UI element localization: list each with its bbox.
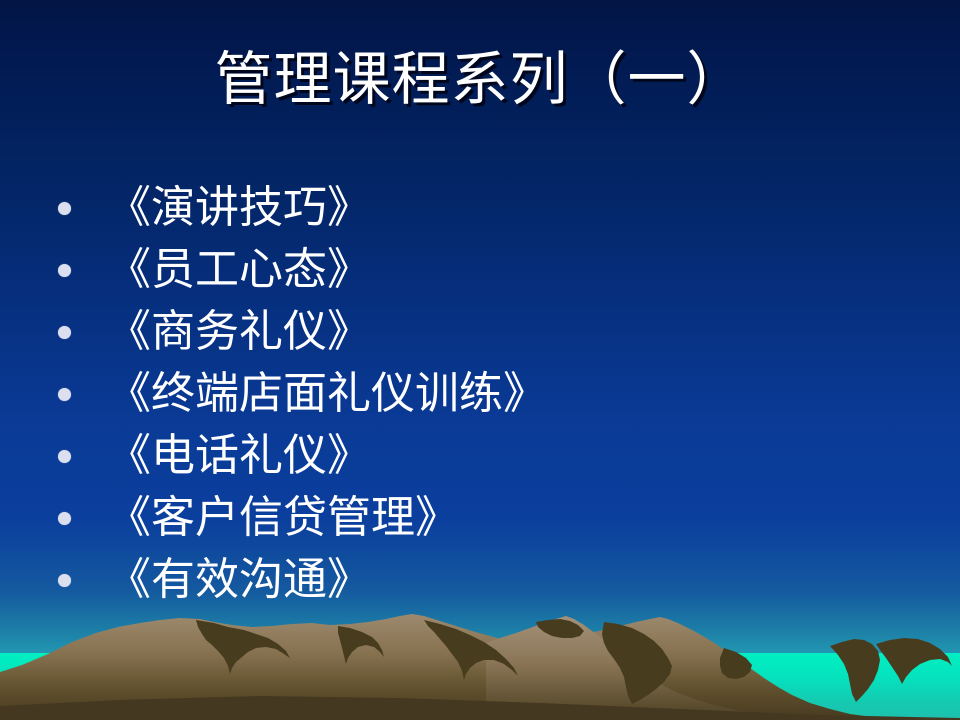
mountain-range-graphic [0, 610, 960, 720]
bullet-dot-icon [58, 264, 71, 277]
list-item-label: 《客户信贷管理》 [107, 493, 459, 543]
list-item[interactable]: 《电话礼仪》 [46, 425, 906, 487]
list-item-label: 《终端店面礼仪训练》 [107, 369, 547, 419]
list-item-label: 《商务礼仪》 [107, 307, 371, 357]
list-item-label: 《演讲技巧》 [107, 183, 371, 233]
list-item[interactable]: 《客户信贷管理》 [46, 487, 906, 549]
presentation-slide: 管理课程系列（一） 《演讲技巧》 《员工心态》 《商务礼仪》 《终端店面礼仪训练… [0, 0, 960, 720]
bullet-dot-icon [58, 326, 71, 339]
list-item[interactable]: 《演讲技巧》 [46, 177, 906, 239]
list-item[interactable]: 《有效沟通》 [46, 549, 906, 611]
list-item[interactable]: 《商务礼仪》 [46, 301, 906, 363]
list-item-label: 《有效沟通》 [107, 555, 371, 605]
bullet-dot-icon [58, 574, 71, 587]
list-item-label: 《员工心态》 [107, 245, 371, 295]
bullet-dot-icon [58, 202, 71, 215]
list-item-label: 《电话礼仪》 [107, 431, 371, 481]
bullet-dot-icon [58, 388, 71, 401]
bullet-list: 《演讲技巧》 《员工心态》 《商务礼仪》 《终端店面礼仪训练》 《电话礼仪》 《… [46, 177, 906, 611]
list-item[interactable]: 《员工心态》 [46, 239, 906, 301]
slide-title: 管理课程系列（一） [0, 44, 960, 114]
list-item[interactable]: 《终端店面礼仪训练》 [46, 363, 906, 425]
bullet-dot-icon [58, 512, 71, 525]
bullet-dot-icon [58, 450, 71, 463]
